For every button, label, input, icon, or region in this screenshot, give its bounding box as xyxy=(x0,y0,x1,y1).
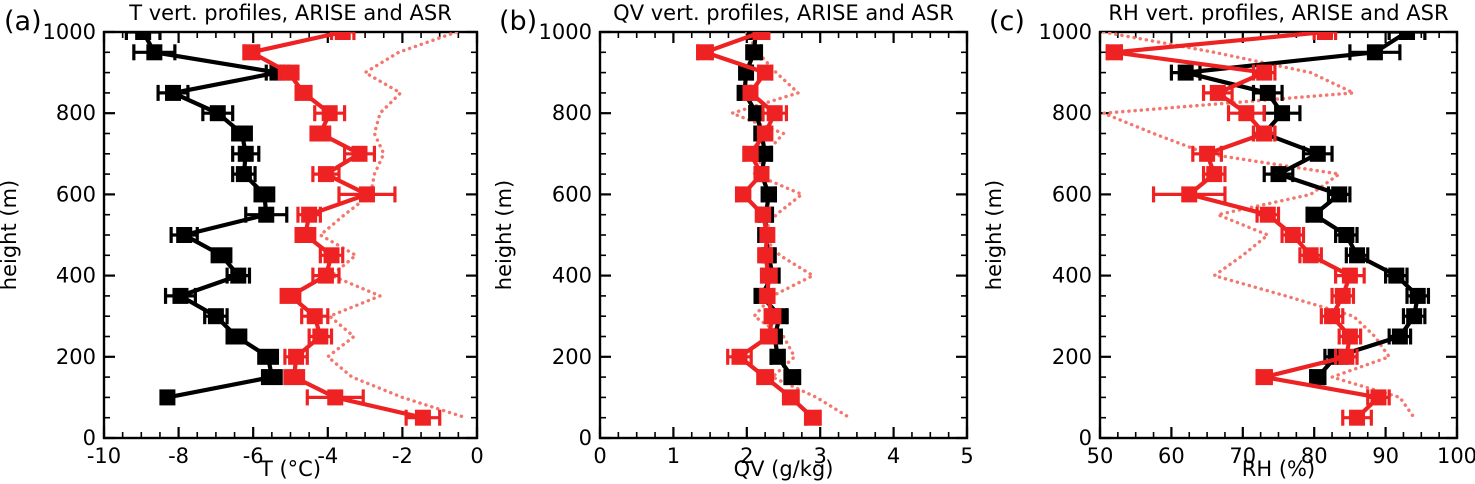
data-point-marker xyxy=(324,247,340,263)
data-point-marker xyxy=(761,268,777,284)
data-point-marker xyxy=(1331,186,1347,202)
data-point-marker xyxy=(757,369,773,385)
data-point-marker xyxy=(258,207,274,223)
data-point-marker xyxy=(135,24,151,40)
y-tick-label: 600 xyxy=(56,182,96,206)
data-point-marker xyxy=(697,44,713,60)
data-point-marker xyxy=(1256,126,1272,142)
data-point-marker xyxy=(1256,369,1272,385)
data-point-marker xyxy=(327,389,343,405)
data-point-marker xyxy=(415,410,431,426)
x-axis-title: RH (%) xyxy=(1242,457,1315,481)
data-point-marker xyxy=(1306,207,1322,223)
data-point-marker xyxy=(243,44,259,60)
data-point-marker xyxy=(761,186,777,202)
data-point-marker xyxy=(784,369,800,385)
y-tick-label: 400 xyxy=(56,264,96,288)
data-point-marker xyxy=(1256,65,1272,81)
data-point-marker xyxy=(1338,227,1354,243)
data-series-group xyxy=(697,24,850,426)
data-point-marker xyxy=(1392,329,1408,345)
x-tick-label: -2 xyxy=(392,444,413,468)
x-tick-label: 60 xyxy=(1158,444,1185,468)
y-axis-title: height (m) xyxy=(495,180,516,290)
x-tick-label: 100 xyxy=(1437,444,1475,468)
data-point-marker xyxy=(234,126,250,142)
data-point-marker xyxy=(1370,389,1386,405)
data-point-marker xyxy=(1260,207,1276,223)
data-point-marker xyxy=(228,329,244,345)
y-axis-title: height (m) xyxy=(985,180,1006,290)
data-point-marker xyxy=(1310,146,1326,162)
plot-area-c: (c)RH vert. profiles, ARISE and ASR50607… xyxy=(985,0,1475,484)
x-tick-label: 0 xyxy=(593,444,606,468)
data-series-group xyxy=(1104,24,1429,426)
data-point-marker xyxy=(757,146,773,162)
y-tick-label: 400 xyxy=(552,264,592,288)
data-point-marker xyxy=(742,146,758,162)
data-point-marker xyxy=(352,146,368,162)
data-point-marker xyxy=(307,308,323,324)
y-tick-label: 800 xyxy=(56,101,96,125)
plot-area-b: (b)QV vert. profiles, ARISE and ASR01234… xyxy=(495,0,985,484)
y-tick-label: 0 xyxy=(1079,426,1092,450)
data-point-marker xyxy=(759,288,775,304)
y-tick-label: 800 xyxy=(552,101,592,125)
y-tick-label: 600 xyxy=(552,182,592,206)
panel-title: QV vert. profiles, ARISE and ASR xyxy=(613,1,954,25)
data-point-marker xyxy=(761,329,777,345)
data-point-marker xyxy=(213,247,229,263)
data-point-marker xyxy=(159,389,175,405)
y-tick-label: 200 xyxy=(552,345,592,369)
data-point-marker xyxy=(322,105,338,121)
data-point-marker xyxy=(1406,308,1422,324)
data-point-marker xyxy=(288,349,304,365)
data-point-marker xyxy=(1335,288,1351,304)
y-tick-label: 1000 xyxy=(1039,20,1092,44)
data-point-marker xyxy=(1238,105,1254,121)
data-point-marker xyxy=(312,126,328,142)
data-point-marker xyxy=(757,126,773,142)
figure-root: (a)T vert. profiles, ARISE and ASR-10-8-… xyxy=(0,0,1475,484)
x-tick-label: -8 xyxy=(168,444,189,468)
series-line xyxy=(705,32,813,418)
data-point-marker xyxy=(286,369,302,385)
data-point-marker xyxy=(805,410,821,426)
data-point-marker xyxy=(1317,24,1333,40)
y-tick-label: 1000 xyxy=(539,20,592,44)
data-point-marker xyxy=(236,166,252,182)
data-point-marker xyxy=(165,85,181,101)
data-point-marker xyxy=(260,349,276,365)
data-point-marker xyxy=(1210,85,1226,101)
data-point-marker xyxy=(1388,268,1404,284)
data-point-marker xyxy=(757,247,773,263)
data-point-marker xyxy=(746,44,762,60)
data-point-marker xyxy=(1260,85,1276,101)
y-tick-label: 800 xyxy=(1052,101,1092,125)
data-point-marker xyxy=(1274,105,1290,121)
y-tick-label: 400 xyxy=(1052,264,1092,288)
data-point-marker xyxy=(1399,24,1415,40)
plot-area-a: (a)T vert. profiles, ARISE and ASR-10-8-… xyxy=(0,0,495,484)
x-tick-label: 0 xyxy=(470,444,483,468)
x-tick-label: 90 xyxy=(1372,444,1399,468)
y-tick-label: 600 xyxy=(1052,182,1092,206)
data-point-marker xyxy=(210,105,226,121)
x-tick-label: 4 xyxy=(887,444,900,468)
data-point-marker xyxy=(1303,247,1319,263)
data-point-marker xyxy=(755,207,771,223)
data-point-marker xyxy=(301,207,317,223)
data-point-marker xyxy=(146,44,162,60)
data-point-marker xyxy=(208,308,224,324)
data-point-marker xyxy=(264,369,280,385)
y-tick-label: 0 xyxy=(579,426,592,450)
x-axis-title: QV (g/kg) xyxy=(734,457,834,481)
data-point-marker xyxy=(296,85,312,101)
data-point-marker xyxy=(1324,308,1340,324)
data-point-marker xyxy=(1342,268,1358,284)
data-point-marker xyxy=(783,389,799,405)
panel-letter-label: (b) xyxy=(499,6,537,37)
panel-b-water-vapor: (b)QV vert. profiles, ARISE and ASR01234… xyxy=(495,0,985,484)
data-point-marker xyxy=(176,227,192,243)
data-point-marker xyxy=(1367,44,1383,60)
panel-c-relative-humidity: (c)RH vert. profiles, ARISE and ASR50607… xyxy=(985,0,1475,484)
data-point-marker xyxy=(283,288,299,304)
data-point-marker xyxy=(1178,65,1194,81)
x-tick-label: 1 xyxy=(667,444,680,468)
data-point-marker xyxy=(1199,146,1215,162)
data-series-group xyxy=(126,24,465,426)
data-point-marker xyxy=(281,65,297,81)
data-point-marker xyxy=(1271,166,1287,182)
y-tick-label: 200 xyxy=(1052,345,1092,369)
data-point-marker xyxy=(764,308,780,324)
data-point-marker xyxy=(1349,247,1365,263)
series-line xyxy=(320,32,465,418)
panel-title: RH vert. profiles, ARISE and ASR xyxy=(1108,1,1448,25)
data-point-marker xyxy=(238,146,254,162)
axes-group: 506070809010002004006008001000 xyxy=(1039,20,1475,468)
data-point-marker xyxy=(230,268,246,284)
data-point-marker xyxy=(735,186,751,202)
x-axis-title: T (°C) xyxy=(259,457,321,481)
data-point-marker xyxy=(757,65,773,81)
data-point-marker xyxy=(312,329,328,345)
data-point-marker xyxy=(767,105,783,121)
data-point-marker xyxy=(753,24,769,40)
data-point-marker xyxy=(731,349,747,365)
panel-title: T vert. profiles, ARISE and ASR xyxy=(128,1,452,25)
data-point-marker xyxy=(256,186,272,202)
y-tick-label: 200 xyxy=(56,345,96,369)
panel-letter-label: (c) xyxy=(989,6,1025,37)
y-tick-label: 0 xyxy=(83,426,96,450)
data-point-marker xyxy=(753,166,769,182)
panel-letter-label: (a) xyxy=(4,6,42,37)
data-point-marker xyxy=(1106,44,1122,60)
panel-a-temperature: (a)T vert. profiles, ARISE and ASR-10-8-… xyxy=(0,0,495,484)
data-point-marker xyxy=(318,268,334,284)
data-point-marker xyxy=(759,227,775,243)
y-tick-label: 1000 xyxy=(43,20,96,44)
y-axis-title: height (m) xyxy=(0,180,21,290)
data-point-marker xyxy=(1285,227,1301,243)
data-point-marker xyxy=(1338,349,1354,365)
axes-group: -10-8-6-4-2002004006008001000 xyxy=(43,20,484,468)
data-point-marker xyxy=(318,166,334,182)
data-point-marker xyxy=(359,186,375,202)
data-point-marker xyxy=(1410,288,1426,304)
data-point-marker xyxy=(770,349,786,365)
data-point-marker xyxy=(1206,166,1222,182)
data-point-marker xyxy=(1342,329,1358,345)
data-point-marker xyxy=(172,288,188,304)
data-point-marker xyxy=(335,24,351,40)
data-point-marker xyxy=(1310,369,1326,385)
data-point-marker xyxy=(1181,186,1197,202)
data-point-marker xyxy=(742,85,758,101)
x-tick-label: 5 xyxy=(960,444,973,468)
data-point-marker xyxy=(1349,410,1365,426)
data-point-marker xyxy=(297,227,313,243)
